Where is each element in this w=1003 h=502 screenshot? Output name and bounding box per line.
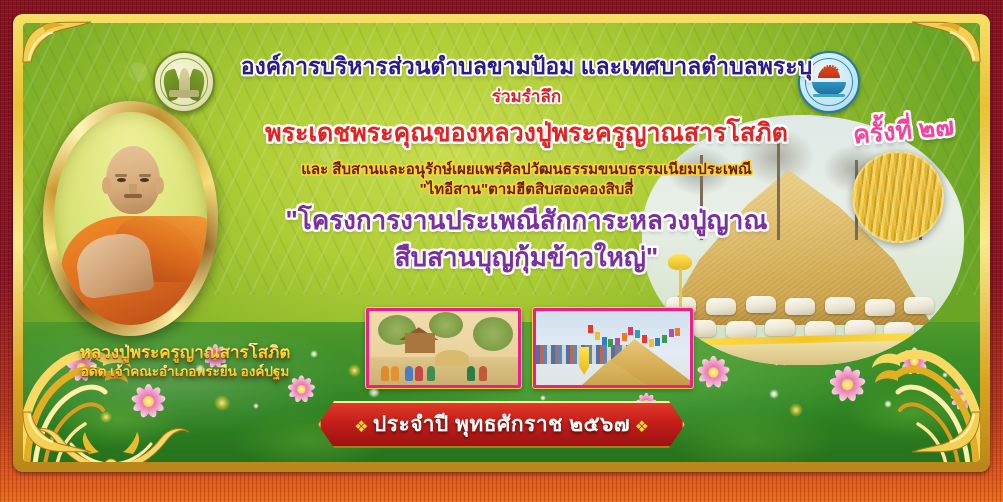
festival-flag xyxy=(595,332,600,340)
festival-flag xyxy=(635,330,640,338)
rice-sack xyxy=(904,297,934,314)
monk-head xyxy=(106,146,160,214)
rice-sack xyxy=(865,299,895,316)
lotus-flower-icon xyxy=(948,384,976,412)
festival-flag xyxy=(628,327,633,335)
year-banner: ❖ ประจำปี พุทธศักราช ๒๕๖๗ ❖ xyxy=(318,401,685,448)
year-label: ประจำปี พุทธศักราช ๒๕๖๗ xyxy=(373,413,630,436)
rice-sack xyxy=(765,319,795,336)
rural-isan-mural-photo xyxy=(366,308,521,388)
purpose-line-1: และ สืบสานและอนุรักษ์เผยแพร่ศิลปวัฒนธรรม… xyxy=(191,160,862,180)
rice-sack xyxy=(726,321,756,338)
rice-sack xyxy=(825,297,855,314)
festival-flag xyxy=(608,339,613,347)
event-banner: องค์การบริหารส่วนตำบลขามป้อม และเทศบาลตำ… xyxy=(0,0,1003,502)
organization-line: องค์การบริหารส่วนตำบลขามป้อม และเทศบาลตำ… xyxy=(191,53,862,79)
gold-frame: องค์การบริหารส่วนตำบลขามป้อม และเทศบาลตำ… xyxy=(13,14,990,472)
festival-flag xyxy=(615,338,620,346)
festival-flag xyxy=(675,328,680,336)
festival-flag xyxy=(662,335,667,343)
lotus-flower-icon xyxy=(128,381,168,421)
project-line-1: "โครงการงานประเพณีสักการะหลวงปู่ญาณ xyxy=(191,205,862,236)
rice-stalks-inset-photo xyxy=(852,151,944,243)
honoree-line: พระเดชพระคุณของหลวงปู่พระครูญาณสารโสภิต xyxy=(191,113,862,153)
headline-block: องค์การบริหารส่วนตำบลขามป้อม และเทศบาลตำ… xyxy=(191,53,862,273)
rice-sack xyxy=(706,298,736,315)
commemorate-line: ร่วมรำลึก xyxy=(191,83,862,110)
monk-name-line: หลวงปู่พระครูญาณสารโสภิต xyxy=(35,343,335,363)
project-line-2: สืบสานบุญกุ้มข้าวใหญ่" xyxy=(191,242,862,273)
ornament-right-icon: ❖ xyxy=(635,417,649,437)
rice-pile-festival-photo xyxy=(533,308,693,388)
portrait-thai-ornament-icon xyxy=(23,418,211,462)
lotus-flower-icon xyxy=(826,363,868,405)
festival-flag xyxy=(649,339,654,347)
monk-title-line: อดีต เจ้าคณะอำเภอพระยืน องค์ปฐม xyxy=(35,364,335,380)
purpose-line-2: "ไทอีสาน"ตามฮีตสิบสองคองสิบสี่ xyxy=(191,180,862,200)
banner-canvas: องค์การบริหารส่วนตำบลขามป้อม และเทศบาลตำ… xyxy=(23,23,980,462)
festival-flag xyxy=(602,337,607,345)
monk-caption: หลวงปู่พระครูญาณสารโสภิต อดีต เจ้าคณะอำเ… xyxy=(35,343,335,380)
ornament-left-icon: ❖ xyxy=(354,417,368,437)
festival-flag xyxy=(642,335,647,343)
rice-sack xyxy=(785,298,815,315)
festival-flag xyxy=(669,329,674,337)
rice-sack xyxy=(746,296,776,313)
festival-flag xyxy=(622,333,627,341)
portrait-image xyxy=(54,112,207,325)
festival-flag xyxy=(588,325,593,333)
festival-flag xyxy=(655,338,660,346)
location-line: ณ วัดสระโนน ตำบลขามป้อม อำเภอพระยืน จังห… xyxy=(23,461,980,462)
